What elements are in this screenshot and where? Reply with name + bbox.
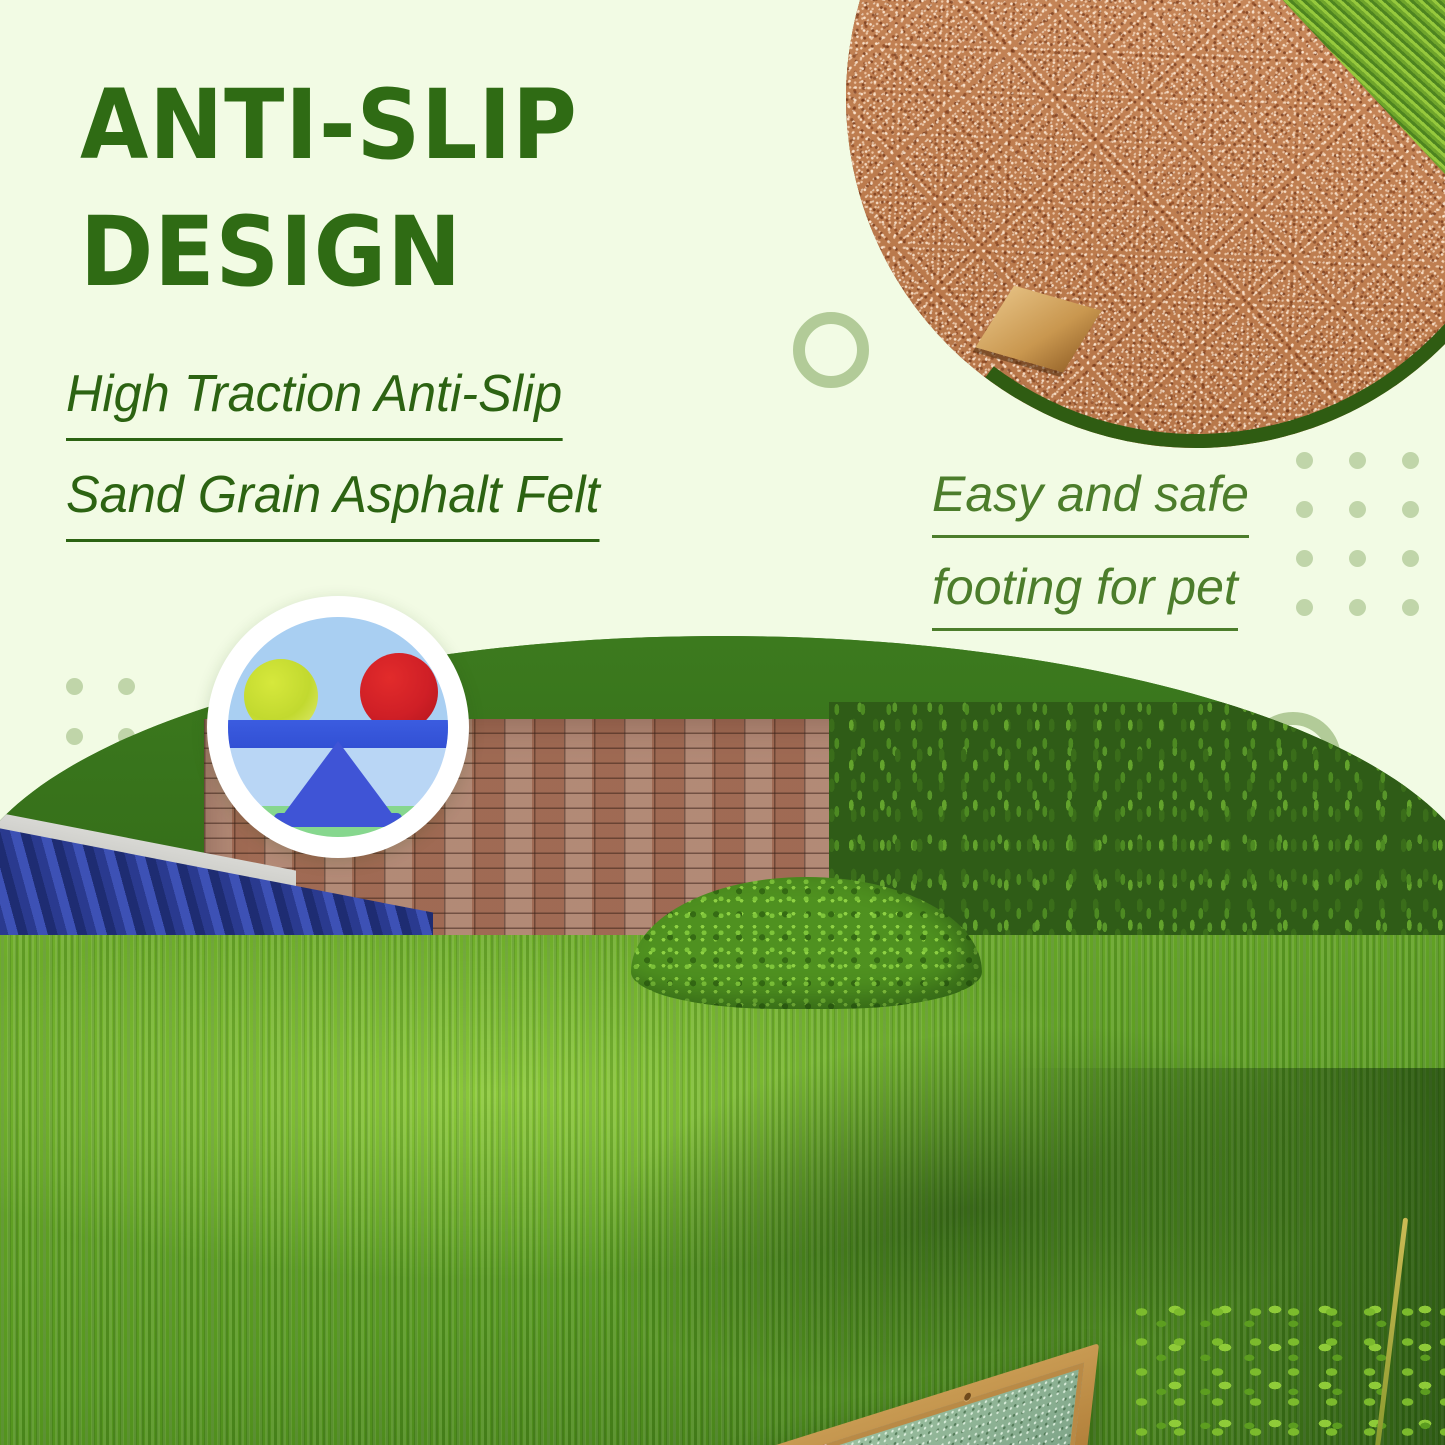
caption-line-1: Easy and safe [932,455,1249,538]
subtitle-line-1: High Traction Anti-Slip [66,352,562,441]
photo-foreground-plants [1134,1300,1445,1445]
subtitle: High Traction Anti-Slip Sand Grain Aspha… [66,352,600,554]
dot [1349,501,1366,518]
badge-fulcrum-triangle [280,741,396,819]
badge-fulcrum-base [274,813,402,827]
balance-seesaw-icon [228,617,448,837]
dot [1402,550,1419,567]
dot [1296,452,1313,469]
headline-line-2: DESIGN [80,189,742,316]
dot [1349,452,1366,469]
dot [1296,599,1313,616]
product-feature-poster: ANTI-SLIP DESIGN High Traction Anti-Slip… [0,0,1445,1445]
dot-grid-right [1296,452,1445,648]
dot [1402,599,1419,616]
headline-line-1: ANTI-SLIP [80,62,742,189]
dot [1296,501,1313,518]
dot [1402,501,1419,518]
balance-badge [207,596,469,858]
closeup-inner [846,0,1445,448]
anti-slip-surface-closeup-image [846,0,1445,448]
dot [1349,599,1366,616]
feature-caption: Easy and safe footing for pet [932,455,1249,641]
caption-line-2: footing for pet [932,548,1238,631]
dot [1402,452,1419,469]
dot [1349,550,1366,567]
dot [1296,550,1313,567]
page-title: ANTI-SLIP DESIGN [80,62,742,315]
subtitle-line-2: Sand Grain Asphalt Felt [66,453,600,542]
